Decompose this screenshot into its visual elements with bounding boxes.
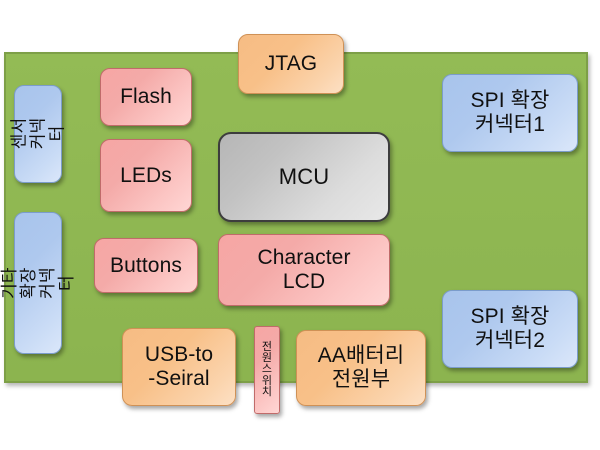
component-buttons[interactable]: Buttons bbox=[94, 238, 198, 293]
component-power-switch[interactable]: 전 원 스 위 치 bbox=[254, 326, 280, 414]
component-label: SPI 확장 커넥터2 bbox=[471, 305, 550, 352]
component-flash[interactable]: Flash bbox=[100, 68, 192, 126]
component-label: AA배터리 전원부 bbox=[318, 344, 404, 391]
component-label: 전 원 스 위 치 bbox=[262, 342, 272, 398]
component-label: Buttons bbox=[110, 254, 182, 278]
component-label: LEDs bbox=[120, 164, 172, 188]
component-character-lcd[interactable]: Character LCD bbox=[218, 234, 390, 306]
component-label: SPI 확장 커넥터1 bbox=[471, 89, 550, 136]
component-label: USB-to -Seiral bbox=[145, 343, 213, 390]
component-label: JTAG bbox=[265, 52, 318, 76]
component-label: Character LCD bbox=[257, 246, 350, 293]
component-aa-battery-power[interactable]: AA배터리 전원부 bbox=[296, 330, 426, 406]
component-label: 센서 커넥터 bbox=[9, 111, 66, 157]
component-jtag[interactable]: JTAG bbox=[238, 34, 344, 94]
component-usb-to-serial[interactable]: USB-to -Seiral bbox=[122, 328, 236, 406]
component-spi-expansion-connector-1[interactable]: SPI 확장 커넥터1 bbox=[442, 74, 578, 152]
component-etc-expansion-connector[interactable]: 기타 확장 커넥터 bbox=[14, 212, 62, 354]
component-spi-expansion-connector-2[interactable]: SPI 확장 커넥터2 bbox=[442, 290, 578, 368]
component-label: Flash bbox=[120, 85, 172, 109]
component-leds[interactable]: LEDs bbox=[100, 139, 192, 212]
component-label: MCU bbox=[279, 165, 329, 190]
diagram-canvas: 센서 커넥터 기타 확장 커넥터 Flash LEDs Buttons JTAG… bbox=[0, 0, 600, 450]
component-sensor-connector[interactable]: 센서 커넥터 bbox=[14, 85, 62, 183]
component-label: 기타 확장 커넥터 bbox=[0, 260, 76, 306]
component-mcu[interactable]: MCU bbox=[218, 132, 390, 222]
